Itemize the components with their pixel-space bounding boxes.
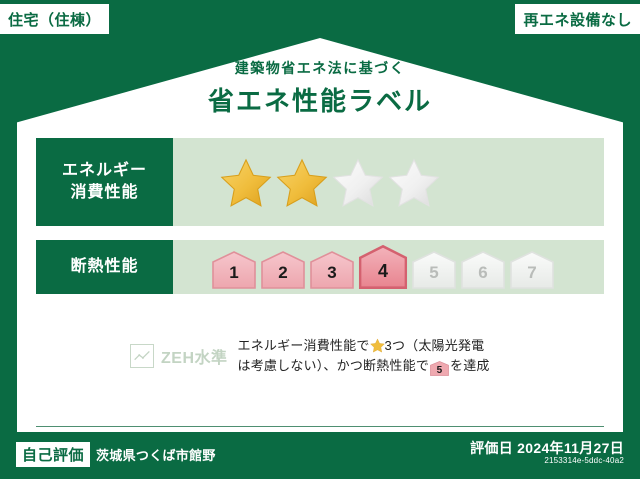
inline-house-value: 5	[430, 361, 449, 380]
zeh-mark-label: ZEH水準	[161, 344, 228, 368]
zeh-description: エネルギー消費性能で3つ（太陽光発電は考慮しない）、かつ断熱性能で5を達成	[238, 336, 490, 376]
energy-label-line1: エネルギー	[62, 162, 147, 179]
insulation-level-number: 1	[229, 263, 238, 290]
star-icon	[370, 338, 385, 353]
label-subtitle: 建築物省エネ法に基づく	[0, 58, 640, 78]
footer-divider	[36, 426, 604, 427]
badge-renewable-energy: 再エネ設備なし	[515, 4, 640, 34]
star-rating	[219, 156, 441, 208]
zeh-desc-line1-pre: エネルギー消費性能で	[238, 338, 370, 353]
inline-house-badge: 5	[430, 361, 449, 376]
insulation-level-number: 6	[478, 263, 487, 290]
insulation-level-number: 5	[429, 263, 438, 290]
star-icon-filled	[219, 156, 273, 208]
insulation-level-6: 6	[460, 250, 506, 290]
insulation-level-number: 4	[378, 261, 388, 290]
evaluation-date: 評価日 2024年11月27日	[470, 438, 624, 458]
insulation-level-2: 2	[260, 250, 306, 290]
insulation-level-5: 5	[411, 250, 457, 290]
zeh-desc-line2-post: を達成	[450, 358, 490, 373]
energy-performance-row: エネルギー 消費性能	[36, 138, 604, 226]
insulation-level-number: 2	[278, 263, 287, 290]
evaluation-type-badge: 自己評価	[16, 442, 90, 467]
star-icon-empty	[331, 156, 385, 208]
energy-label-line2: 消費性能	[70, 184, 138, 201]
zeh-desc-line1-post: 3つ（太陽光発電	[385, 338, 485, 353]
star-icon-filled	[275, 156, 329, 208]
insulation-performance-value: 1234567	[173, 240, 604, 294]
insulation-level-scale: 1234567	[211, 244, 555, 290]
energy-performance-label: エネルギー 消費性能	[36, 138, 173, 226]
document-id: 2153314e-5ddc-40a2	[544, 456, 624, 465]
badge-building-type: 住宅（住棟）	[0, 4, 109, 34]
insulation-level-7: 7	[509, 250, 555, 290]
insulation-level-3: 3	[309, 250, 355, 290]
energy-performance-label: 住宅（住棟） 再エネ設備なし 建築物省エネ法に基づく 省エネ性能ラベル エネルギ…	[0, 0, 640, 479]
zeh-desc-line2-pre: は考慮しない）、かつ断熱性能で	[238, 358, 430, 373]
insulation-level-number: 3	[327, 263, 336, 290]
zeh-standard-block: ZEH水準 エネルギー消費性能で3つ（太陽光発電は考慮しない）、かつ断熱性能で5…	[130, 336, 550, 376]
insulation-performance-label: 断熱性能	[36, 240, 173, 294]
star-icon-empty	[387, 156, 441, 208]
energy-performance-value	[173, 138, 604, 226]
label-footer: 自己評価 茨城県つくば市館野 評価日 2024年11月27日 2153314e-…	[0, 432, 640, 479]
label-title: 省エネ性能ラベル	[0, 81, 640, 118]
zeh-mark: ZEH水準	[130, 344, 228, 368]
insulation-level-number: 7	[527, 263, 536, 290]
property-location: 茨城県つくば市館野	[96, 445, 216, 464]
insulation-level-1: 1	[211, 250, 257, 290]
insulation-level-4: 4	[358, 244, 408, 290]
insulation-performance-row: 断熱性能 1234567	[36, 240, 604, 294]
zeh-chart-icon	[130, 344, 154, 368]
